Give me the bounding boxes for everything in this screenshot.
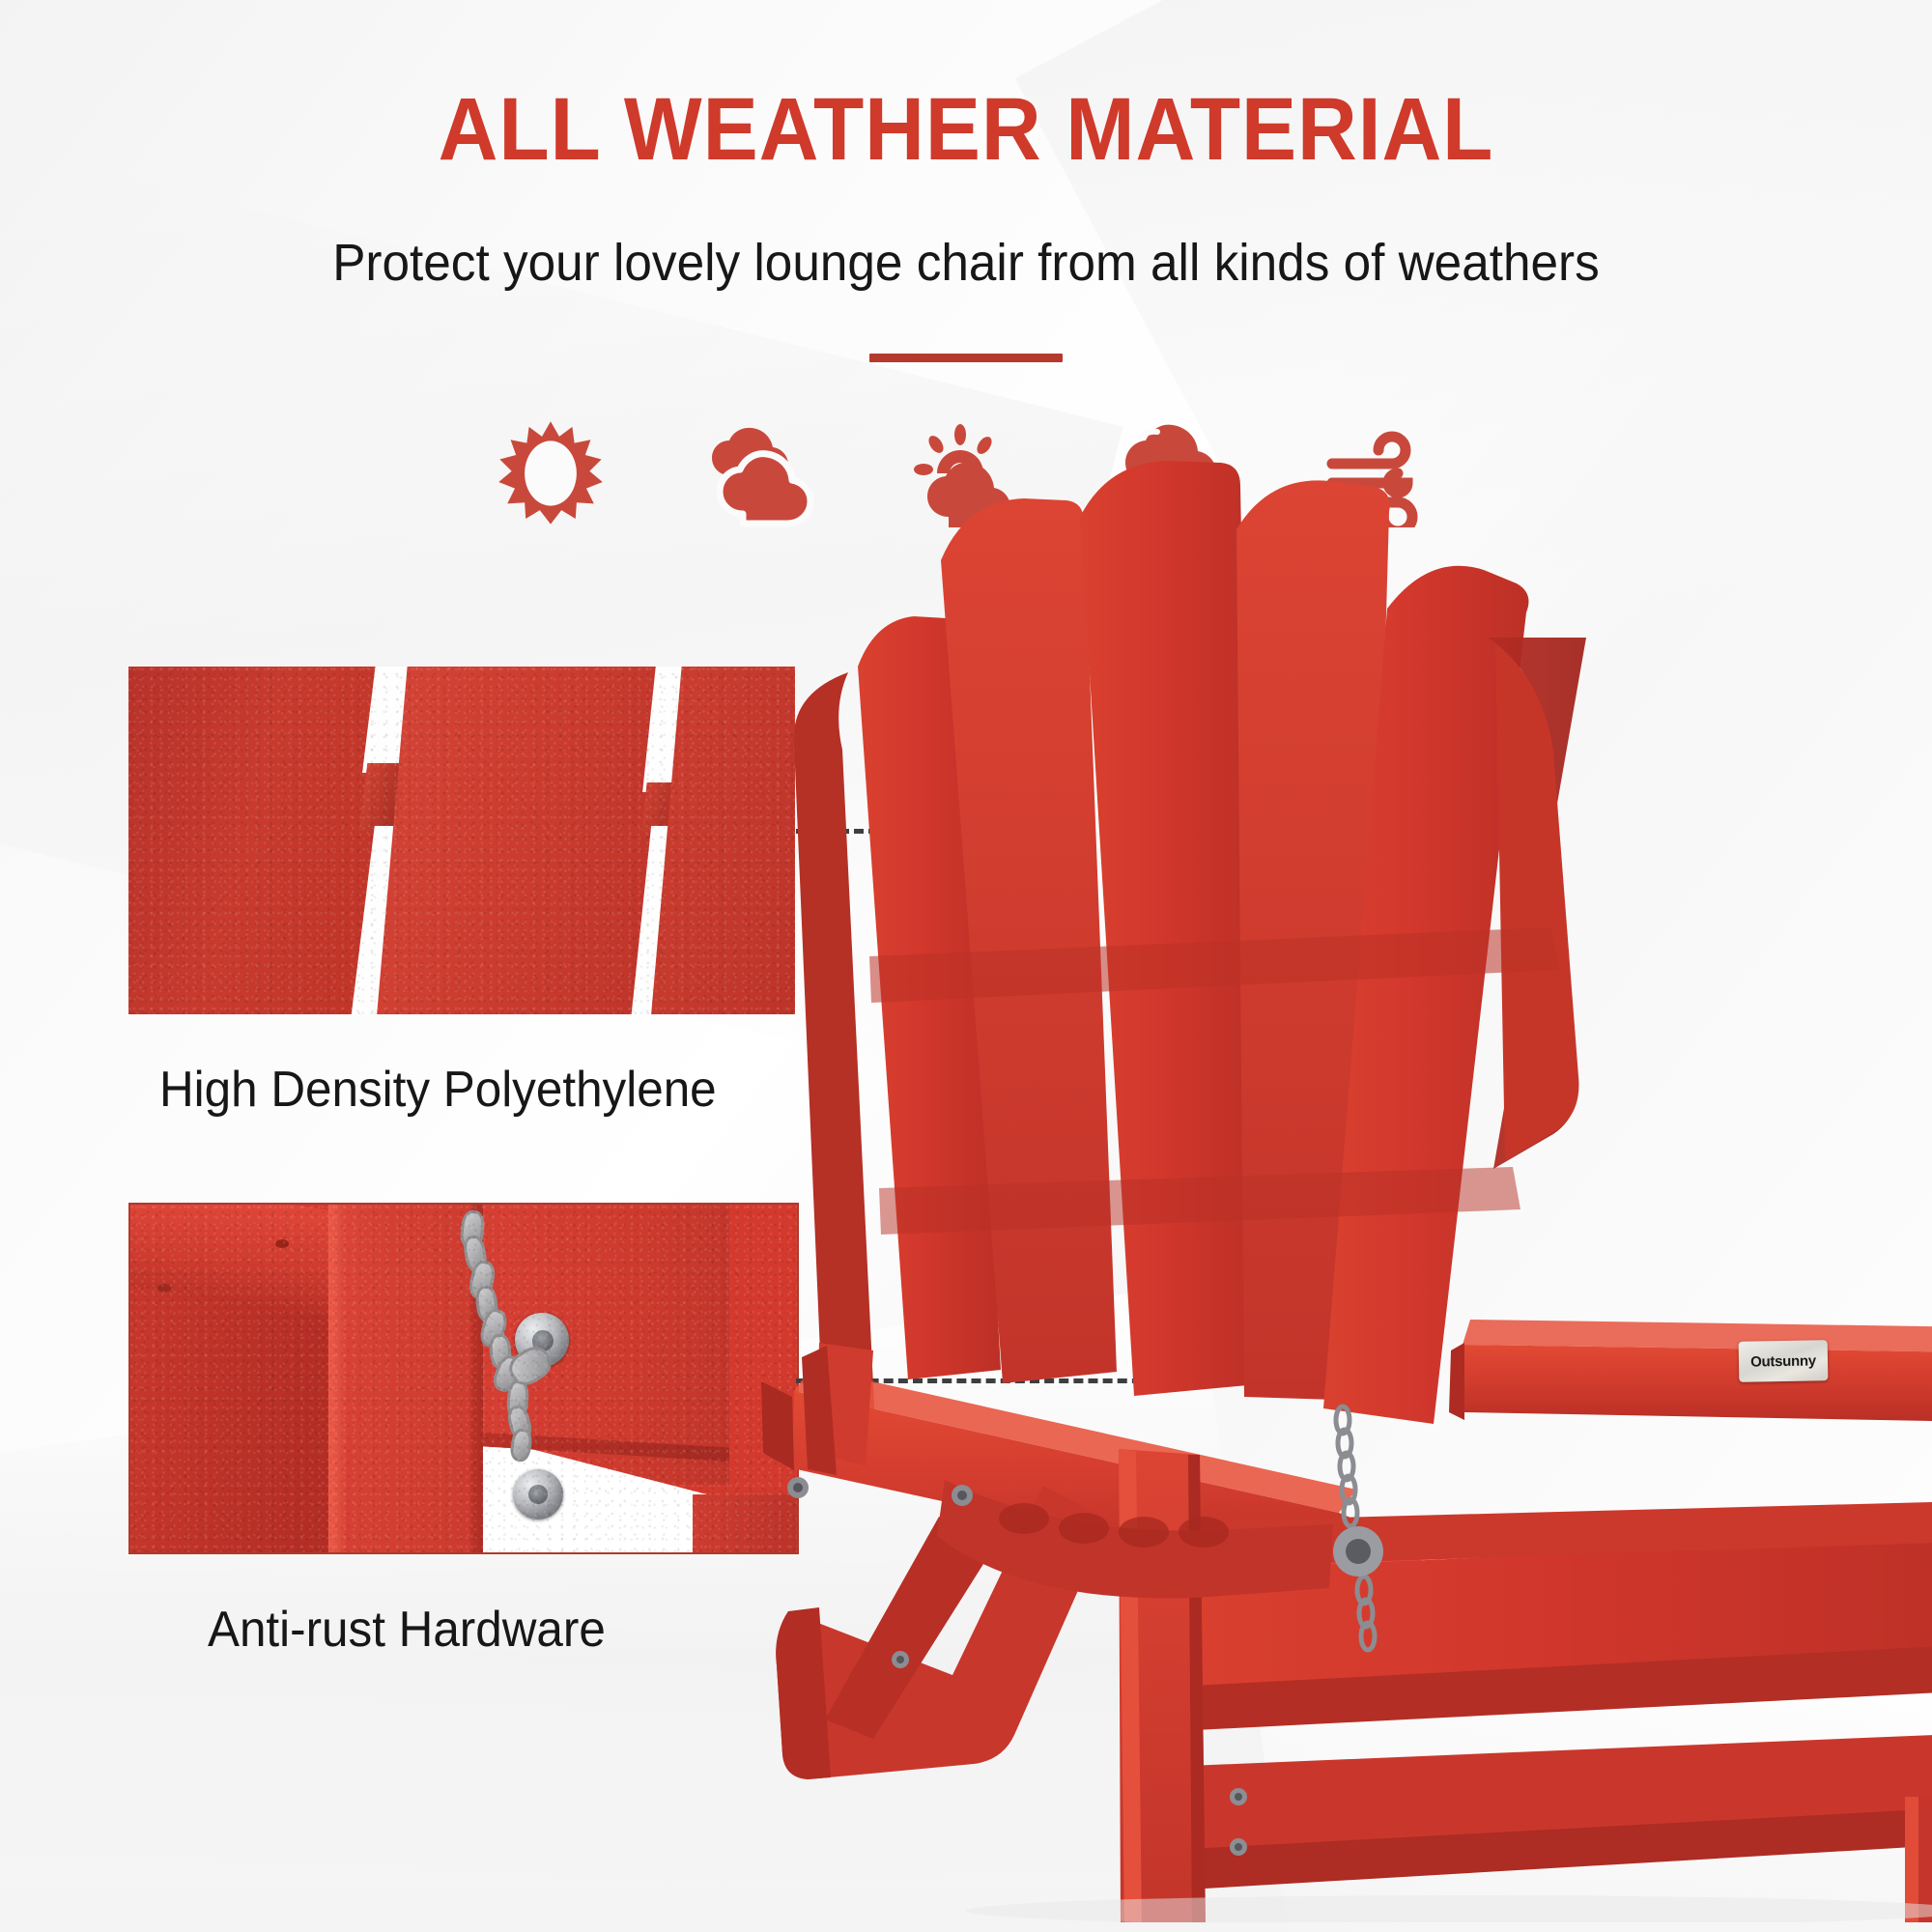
- sun-icon: [483, 411, 618, 536]
- hdpe-photo: [128, 667, 795, 1014]
- header-divider: [869, 354, 1063, 362]
- brand-badge-label: Outsunny: [1750, 1352, 1816, 1370]
- brand-badge: Outsunny: [1739, 1340, 1829, 1382]
- hdpe-label: High Density Polyethylene: [159, 1065, 763, 1115]
- page-subheadline: Protect your lovely lounge chair from al…: [48, 237, 1884, 289]
- callout-hardware: Anti-rust Hardware: [128, 1203, 799, 1655]
- marketing-image-canvas: ALL WEATHER MATERIAL Protect your lovely…: [0, 0, 1932, 1932]
- page-headline: ALL WEATHER MATERIAL: [68, 85, 1864, 174]
- hardware-label: Anti-rust Hardware: [208, 1605, 769, 1655]
- callout-hdpe: High Density Polyethylene: [128, 667, 795, 1115]
- hardware-photo: [128, 1203, 799, 1554]
- product-photo-adirondack-chair: [734, 415, 1932, 1922]
